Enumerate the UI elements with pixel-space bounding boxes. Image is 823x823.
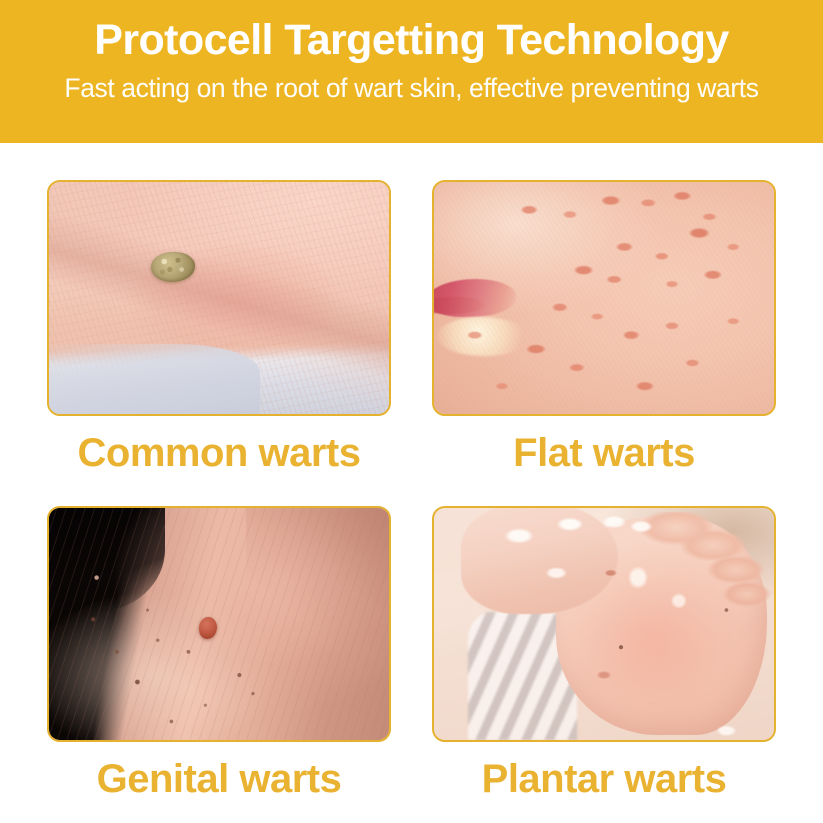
wart-photo-flat — [432, 180, 776, 416]
moles-layer — [49, 508, 389, 740]
skin-texture-layer — [434, 182, 774, 414]
wart-card-label-common: Common warts — [78, 431, 361, 475]
wart-card-label-flat: Flat warts — [513, 431, 695, 475]
wart-card-label-plantar: Plantar warts — [482, 757, 727, 801]
wart-card-common[interactable]: Common warts — [47, 180, 391, 498]
wart-photo-genital — [47, 506, 391, 742]
wart-card-flat[interactable]: Flat warts — [432, 180, 776, 498]
table-surface-layer — [49, 344, 260, 414]
wart-lesion — [151, 252, 195, 282]
header-banner: Protocell Targetting Technology Fast act… — [0, 0, 823, 143]
wart-lesion — [199, 617, 217, 639]
wart-photo-plantar — [432, 506, 776, 742]
wart-card-plantar[interactable]: Plantar warts — [432, 506, 776, 823]
wart-card-label-genital: Genital warts — [97, 757, 342, 801]
plantar-wart-lesions-layer — [434, 508, 774, 740]
page-subtitle: Fast acting on the root of wart skin, ef… — [64, 73, 758, 104]
promo-page: Protocell Targetting Technology Fast act… — [0, 0, 823, 823]
page-title: Protocell Targetting Technology — [94, 16, 728, 64]
wart-photo-common — [47, 180, 391, 416]
wart-type-grid: Common warts Flat warts — [0, 143, 823, 823]
wart-card-genital[interactable]: Genital warts — [47, 506, 391, 823]
